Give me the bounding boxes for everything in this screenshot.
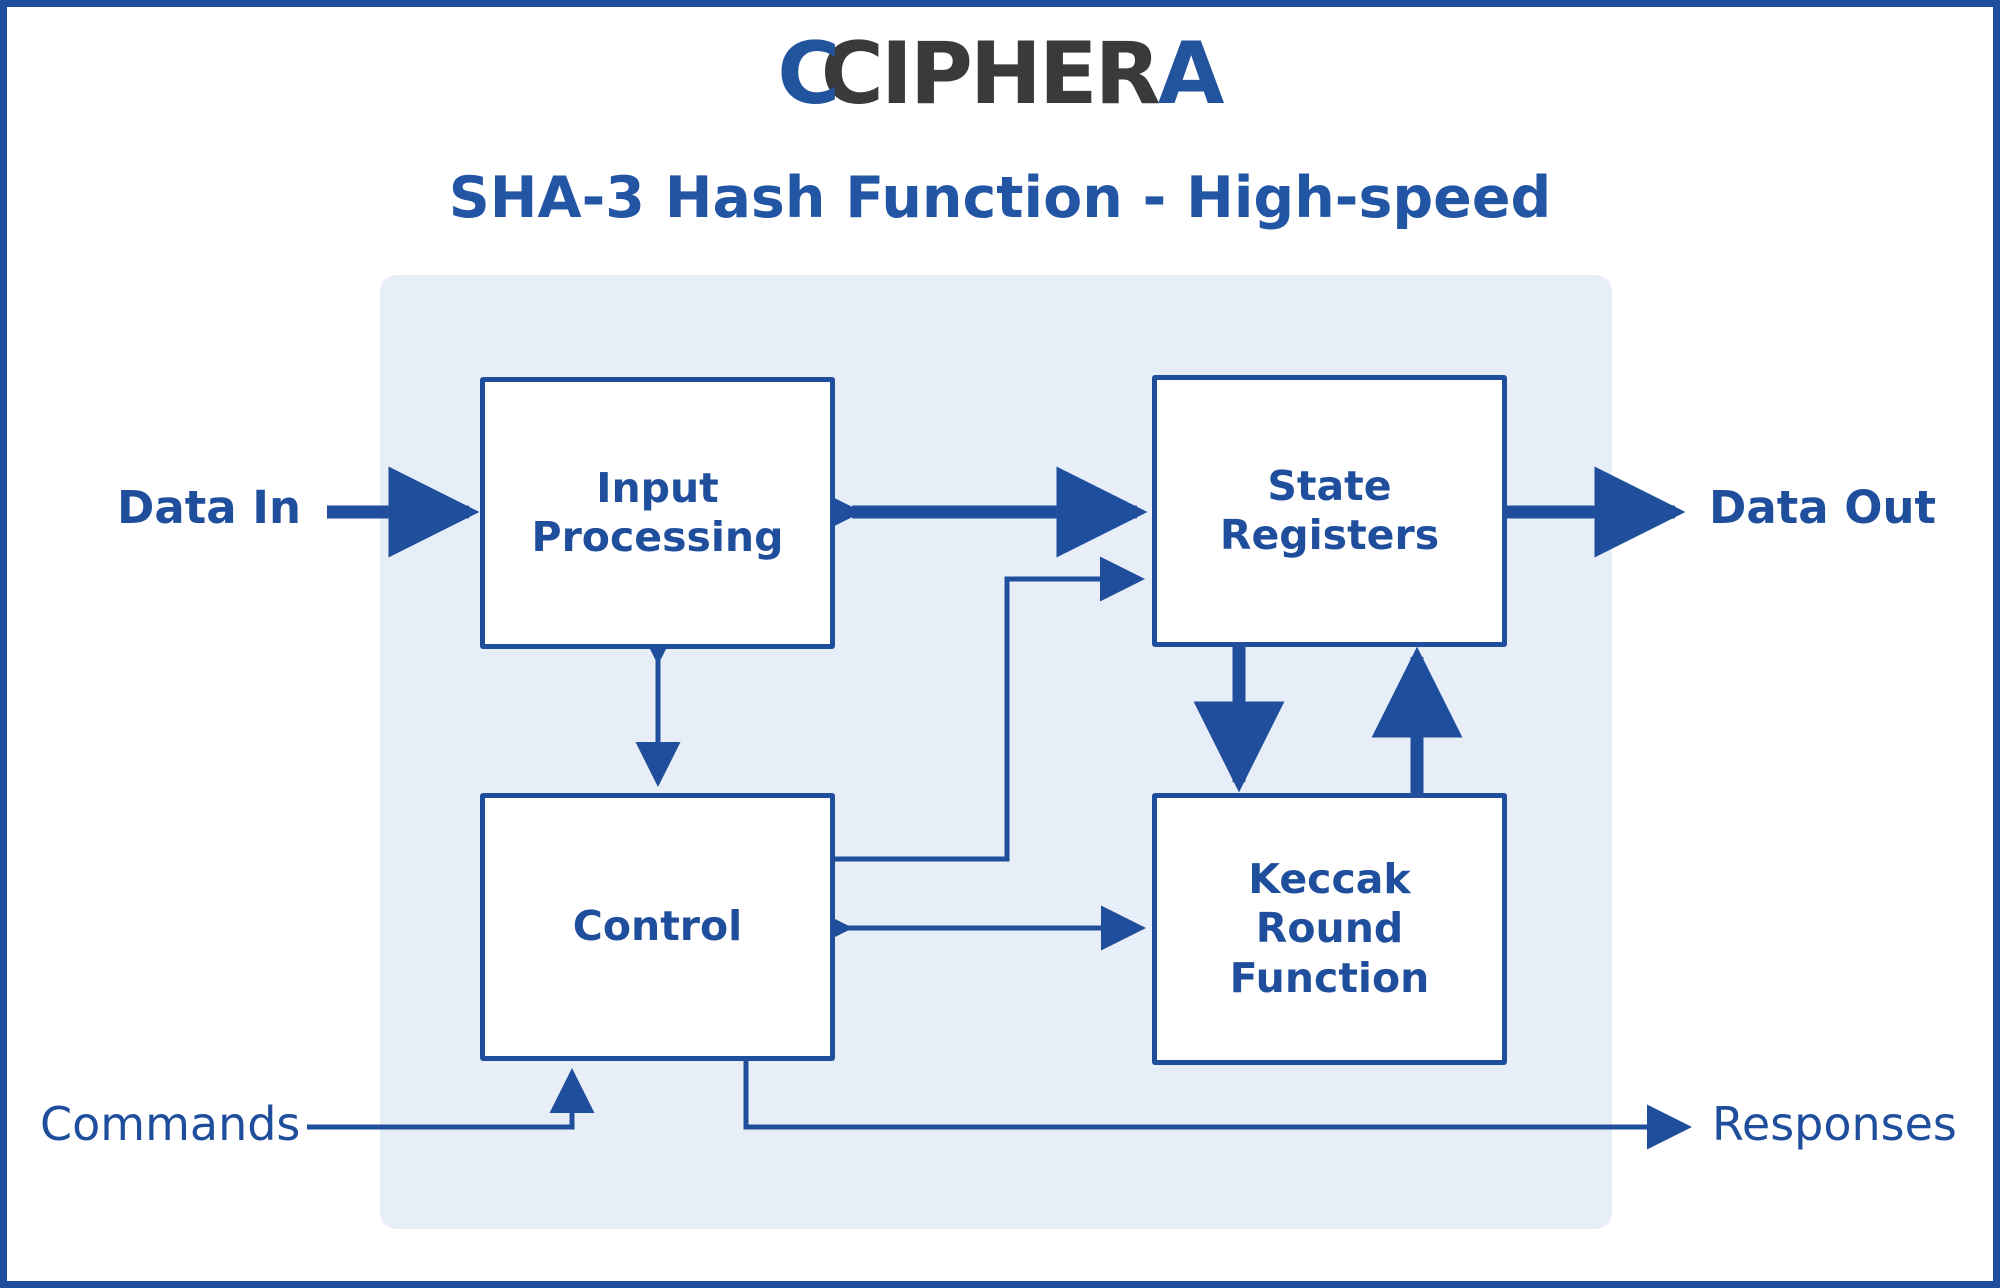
block-input-processing-label: Input Processing (532, 464, 784, 562)
diagram-page: ƆCIPHERA SHA-3 Hash Function - High-spee… (0, 0, 2000, 1288)
label-commands: Commands (40, 1101, 300, 1147)
block-control-label: Control (573, 902, 743, 951)
block-input-processing[interactable]: Input Processing (480, 377, 835, 649)
connector-control-to-responses (746, 1061, 1687, 1127)
block-keccak-round-function[interactable]: Keccak Round Function (1152, 793, 1507, 1065)
label-responses: Responses (1712, 1101, 1957, 1147)
connector-commands-to-control (307, 1073, 572, 1127)
block-keccak-round-function-label: Keccak Round Function (1230, 855, 1430, 1003)
connector-layer (7, 7, 1993, 1281)
label-data-in: Data In (117, 485, 301, 530)
label-data-out: Data Out (1709, 485, 1936, 530)
block-state-registers[interactable]: State Registers (1152, 375, 1507, 647)
block-state-registers-label: State Registers (1220, 462, 1439, 560)
connector-control-to-state-registers (835, 579, 1140, 859)
block-control[interactable]: Control (480, 793, 835, 1061)
